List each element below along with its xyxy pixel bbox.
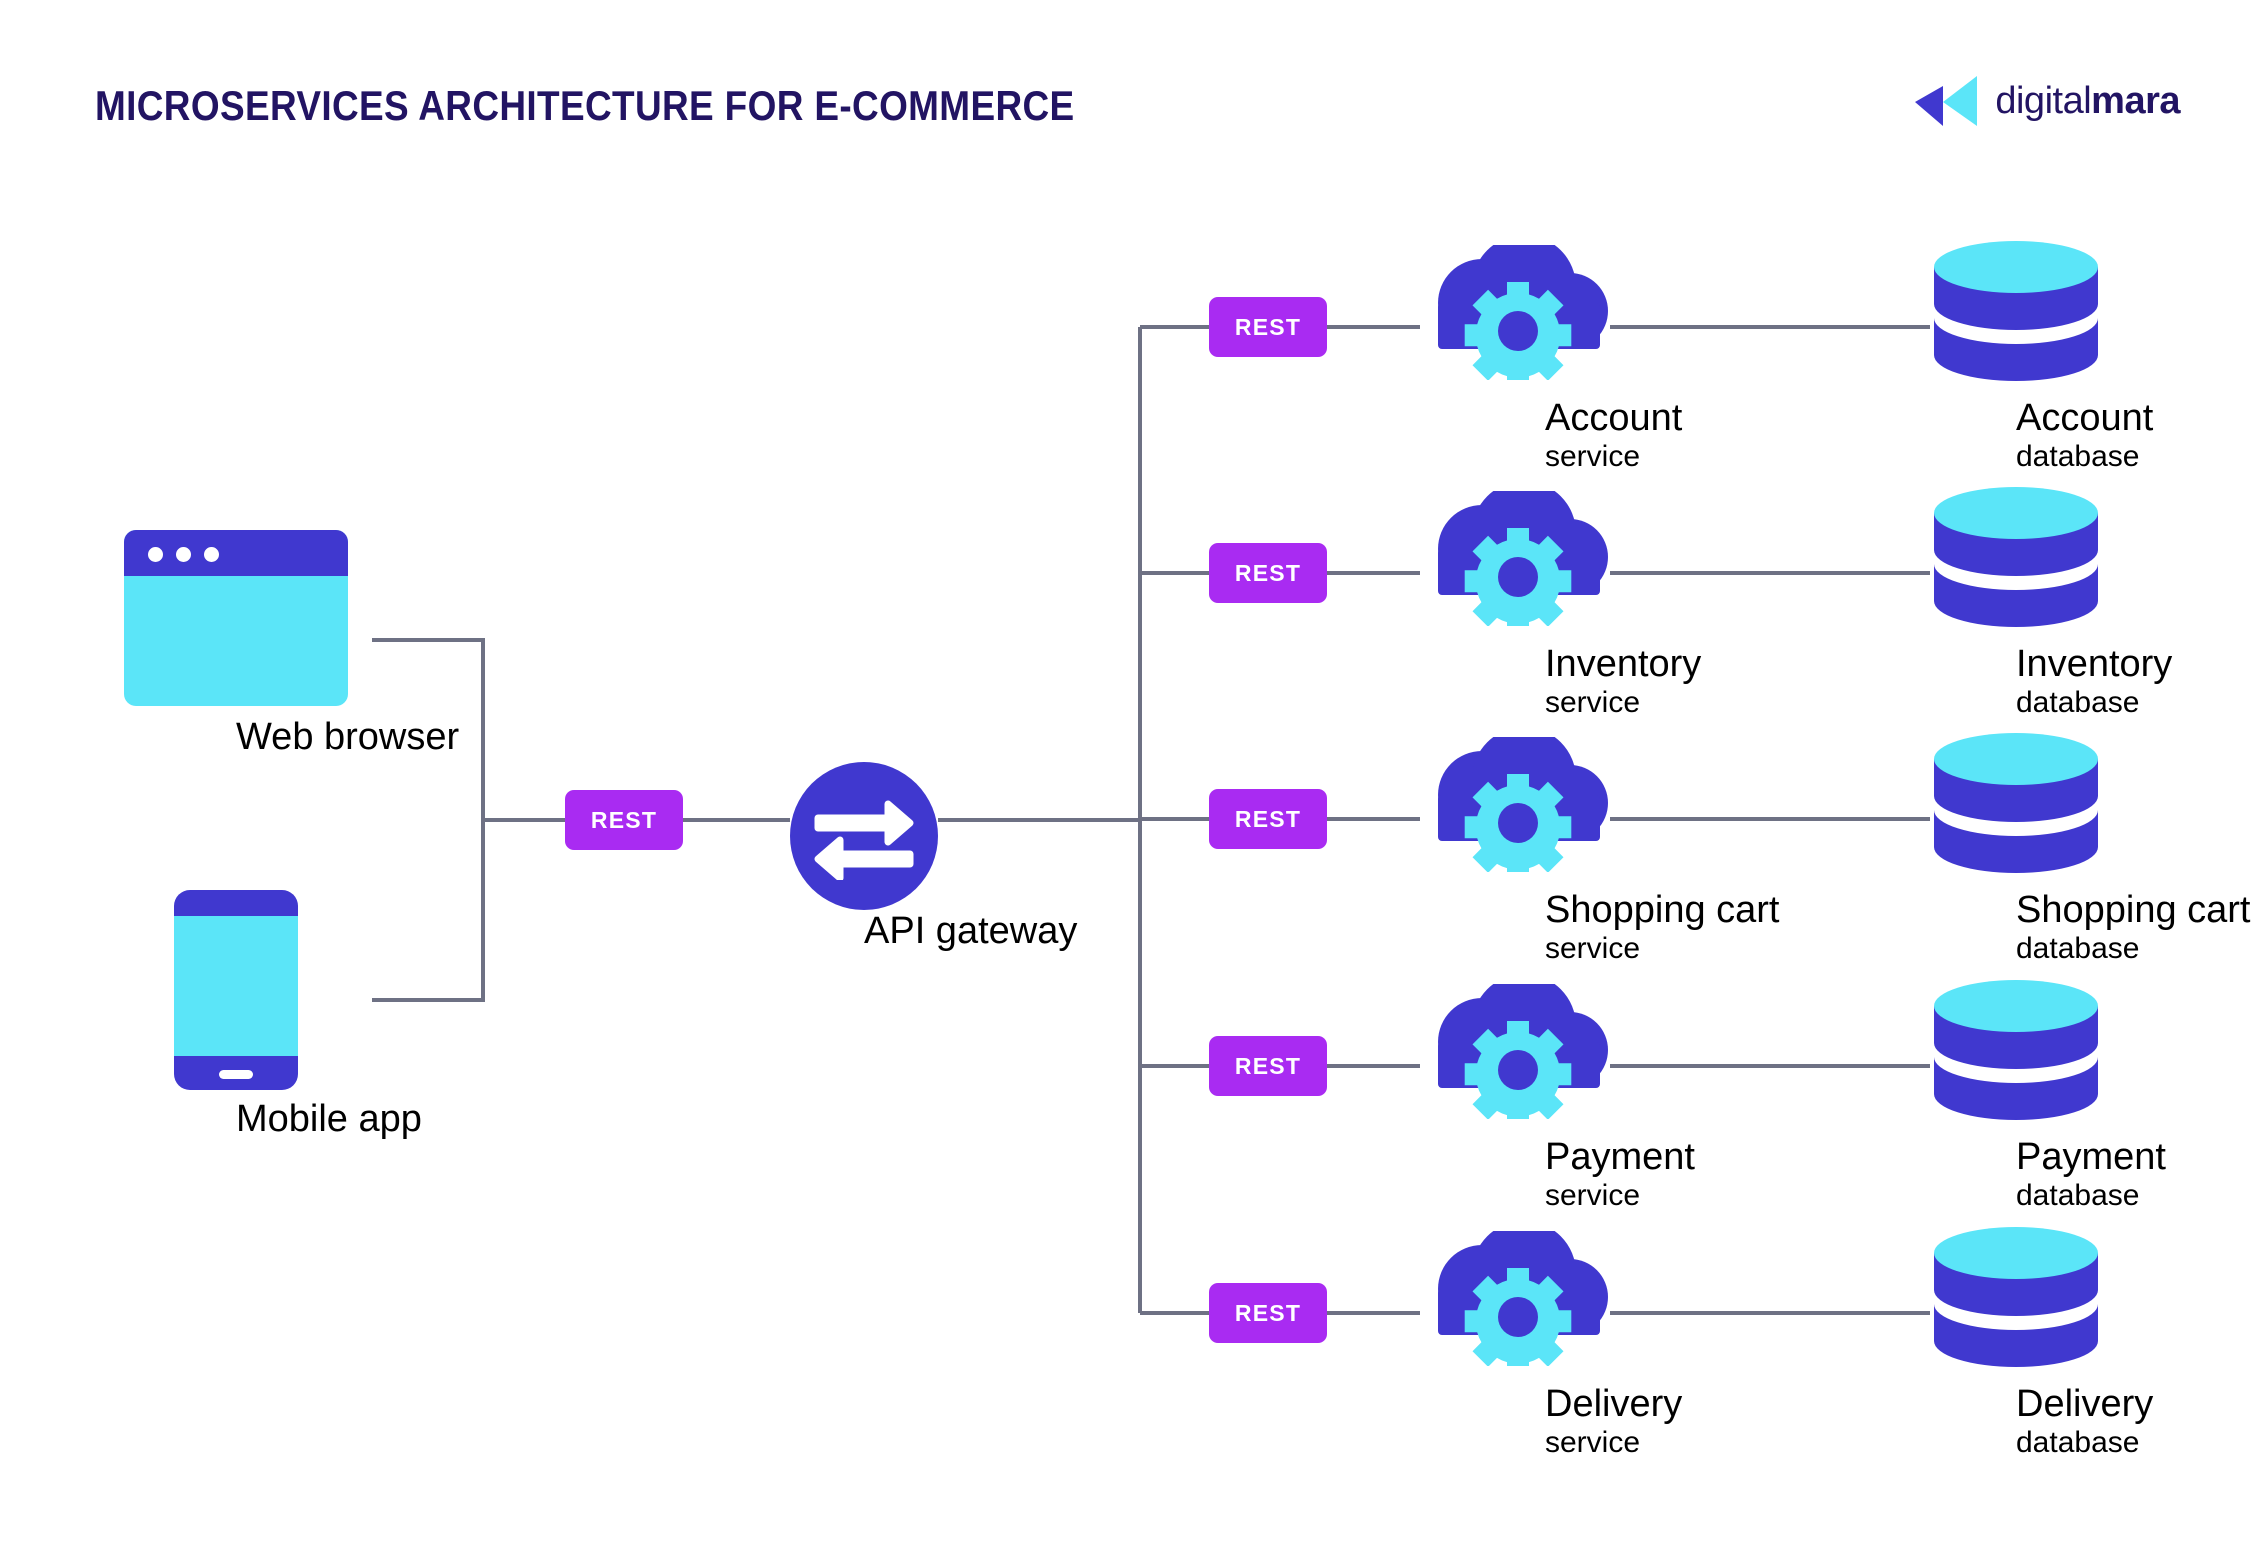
rest-badge-inventory[interactable]: REST — [1209, 543, 1327, 603]
database-name: Account — [2016, 397, 2153, 440]
service-name: Payment — [1545, 1136, 1695, 1179]
rest-badge-shopping-cart[interactable]: REST — [1209, 789, 1327, 849]
payment-database-label: Paymentdatabase — [2016, 1136, 2166, 1213]
database-kind: database — [2016, 1179, 2166, 1213]
delivery-service-icon[interactable] — [1420, 1231, 1616, 1366]
account-service-label: Accountservice — [1545, 397, 1682, 474]
delivery-database-icon[interactable] — [1930, 1227, 2102, 1367]
database-name: Shopping cart — [2016, 889, 2251, 932]
database-kind: database — [2016, 686, 2172, 720]
service-name: Delivery — [1545, 1383, 1682, 1426]
cloud-gear-icon — [1420, 491, 1616, 626]
service-kind: service — [1545, 440, 1682, 474]
connector-lines — [0, 0, 2258, 1558]
api-gateway-icon[interactable] — [790, 762, 938, 910]
database-name: Payment — [2016, 1136, 2166, 1179]
browser-dot-3 — [204, 547, 219, 562]
exchange-arrows-icon — [814, 792, 914, 880]
service-name: Account — [1545, 397, 1682, 440]
browser-dot-2 — [176, 547, 191, 562]
smartphone-icon — [174, 890, 298, 1090]
service-name: Inventory — [1545, 643, 1701, 686]
diagram-canvas: MICROSERVICES ARCHITECTURE FOR E-COMMERC… — [0, 0, 2258, 1558]
account-service-icon[interactable] — [1420, 245, 1616, 380]
phone-home-button-icon — [219, 1070, 253, 1079]
cloud-gear-icon — [1420, 984, 1616, 1119]
database-kind: database — [2016, 1426, 2153, 1460]
database-cylinder-icon — [1930, 1227, 2102, 1367]
database-cylinder-icon — [1930, 980, 2102, 1120]
service-kind: service — [1545, 1179, 1695, 1213]
shopping-cart-database-label: Shopping cartdatabase — [2016, 889, 2251, 966]
database-name: Inventory — [2016, 643, 2172, 686]
database-kind: database — [2016, 440, 2153, 474]
payment-database-icon[interactable] — [1930, 980, 2102, 1120]
database-cylinder-icon — [1930, 733, 2102, 873]
account-database-icon[interactable] — [1930, 241, 2102, 381]
service-name: Shopping cart — [1545, 889, 1780, 932]
shopping-cart-service-label: Shopping cartservice — [1545, 889, 1780, 966]
service-kind: service — [1545, 1426, 1682, 1460]
payment-service-icon[interactable] — [1420, 984, 1616, 1119]
database-cylinder-icon — [1930, 487, 2102, 627]
shopping-cart-service-icon[interactable] — [1420, 737, 1616, 872]
inventory-database-label: Inventorydatabase — [2016, 643, 2172, 720]
delivery-service-label: Deliveryservice — [1545, 1383, 1682, 1460]
inventory-service-label: Inventoryservice — [1545, 643, 1701, 720]
database-name: Delivery — [2016, 1383, 2153, 1426]
shopping-cart-database-icon[interactable] — [1930, 733, 2102, 873]
delivery-database-label: Deliverydatabase — [2016, 1383, 2153, 1460]
payment-service-label: Paymentservice — [1545, 1136, 1695, 1213]
rest-badge-payment[interactable]: REST — [1209, 1036, 1327, 1096]
cloud-gear-icon — [1420, 245, 1616, 380]
rest-badge-delivery[interactable]: REST — [1209, 1283, 1327, 1343]
database-cylinder-icon — [1930, 241, 2102, 381]
service-kind: service — [1545, 932, 1780, 966]
browser-window-icon — [124, 530, 348, 706]
account-database-label: Accountdatabase — [2016, 397, 2153, 474]
rest-badge-client[interactable]: REST — [565, 790, 683, 850]
inventory-database-icon[interactable] — [1930, 487, 2102, 627]
web-browser-label: Web browser — [236, 716, 459, 759]
api-gateway-label: API gateway — [864, 910, 1077, 953]
browser-dot-1 — [148, 547, 163, 562]
cloud-gear-icon — [1420, 1231, 1616, 1366]
rest-badge-account[interactable]: REST — [1209, 297, 1327, 357]
service-kind: service — [1545, 686, 1701, 720]
inventory-service-icon[interactable] — [1420, 491, 1616, 626]
mobile-app-label: Mobile app — [236, 1098, 422, 1141]
cloud-gear-icon — [1420, 737, 1616, 872]
database-kind: database — [2016, 932, 2251, 966]
